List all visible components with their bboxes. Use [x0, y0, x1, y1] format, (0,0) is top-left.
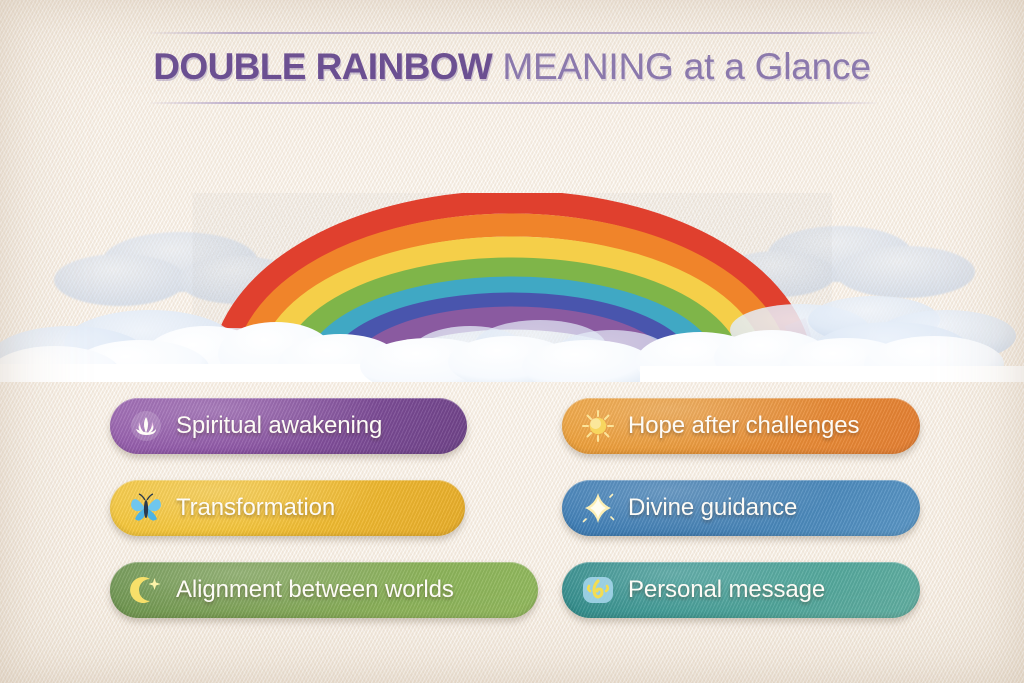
badge-hope-after-challenges[interactable]: Hope after challenges [562, 398, 920, 454]
badge-label: Transformation [176, 494, 335, 522]
lotus-icon [126, 406, 166, 446]
badge-spiritual-awakening[interactable]: Spiritual awakening [110, 398, 467, 454]
crescent-moon-star-icon [126, 570, 166, 610]
sparkle-star-icon [578, 488, 618, 528]
sun-icon [578, 406, 618, 446]
badge-label: Alignment between worlds [176, 576, 454, 604]
spiral-symbol-icon [578, 570, 618, 610]
title-rule-bottom [150, 102, 877, 104]
title-rule-top [150, 32, 877, 34]
badge-column-left: Spiritual awakening Transformation [110, 398, 538, 644]
infographic-poster: DOUBLE RAINBOW MEANING at a Glance [0, 0, 1024, 683]
meaning-badge-grid: Spiritual awakening Transformation [0, 398, 1024, 648]
badge-alignment-between-worlds[interactable]: Alignment between worlds [110, 562, 538, 618]
title-strong: DOUBLE RAINBOW [153, 46, 492, 87]
badge-label: Hope after challenges [628, 412, 859, 440]
page-title: DOUBLE RAINBOW MEANING at a Glance [0, 46, 1024, 88]
rainbow-illustration [0, 112, 1024, 382]
title-light: MEANING at a Glance [502, 46, 870, 87]
badge-divine-guidance[interactable]: Divine guidance [562, 480, 920, 536]
butterfly-icon [126, 488, 166, 528]
badge-transformation[interactable]: Transformation [110, 480, 465, 536]
badge-personal-message[interactable]: Personal message [562, 562, 920, 618]
badge-column-right: Hope after challenges Divine guidance [562, 398, 920, 644]
badge-label: Spiritual awakening [176, 412, 382, 440]
badge-label: Personal message [628, 576, 825, 604]
badge-label: Divine guidance [628, 494, 797, 522]
